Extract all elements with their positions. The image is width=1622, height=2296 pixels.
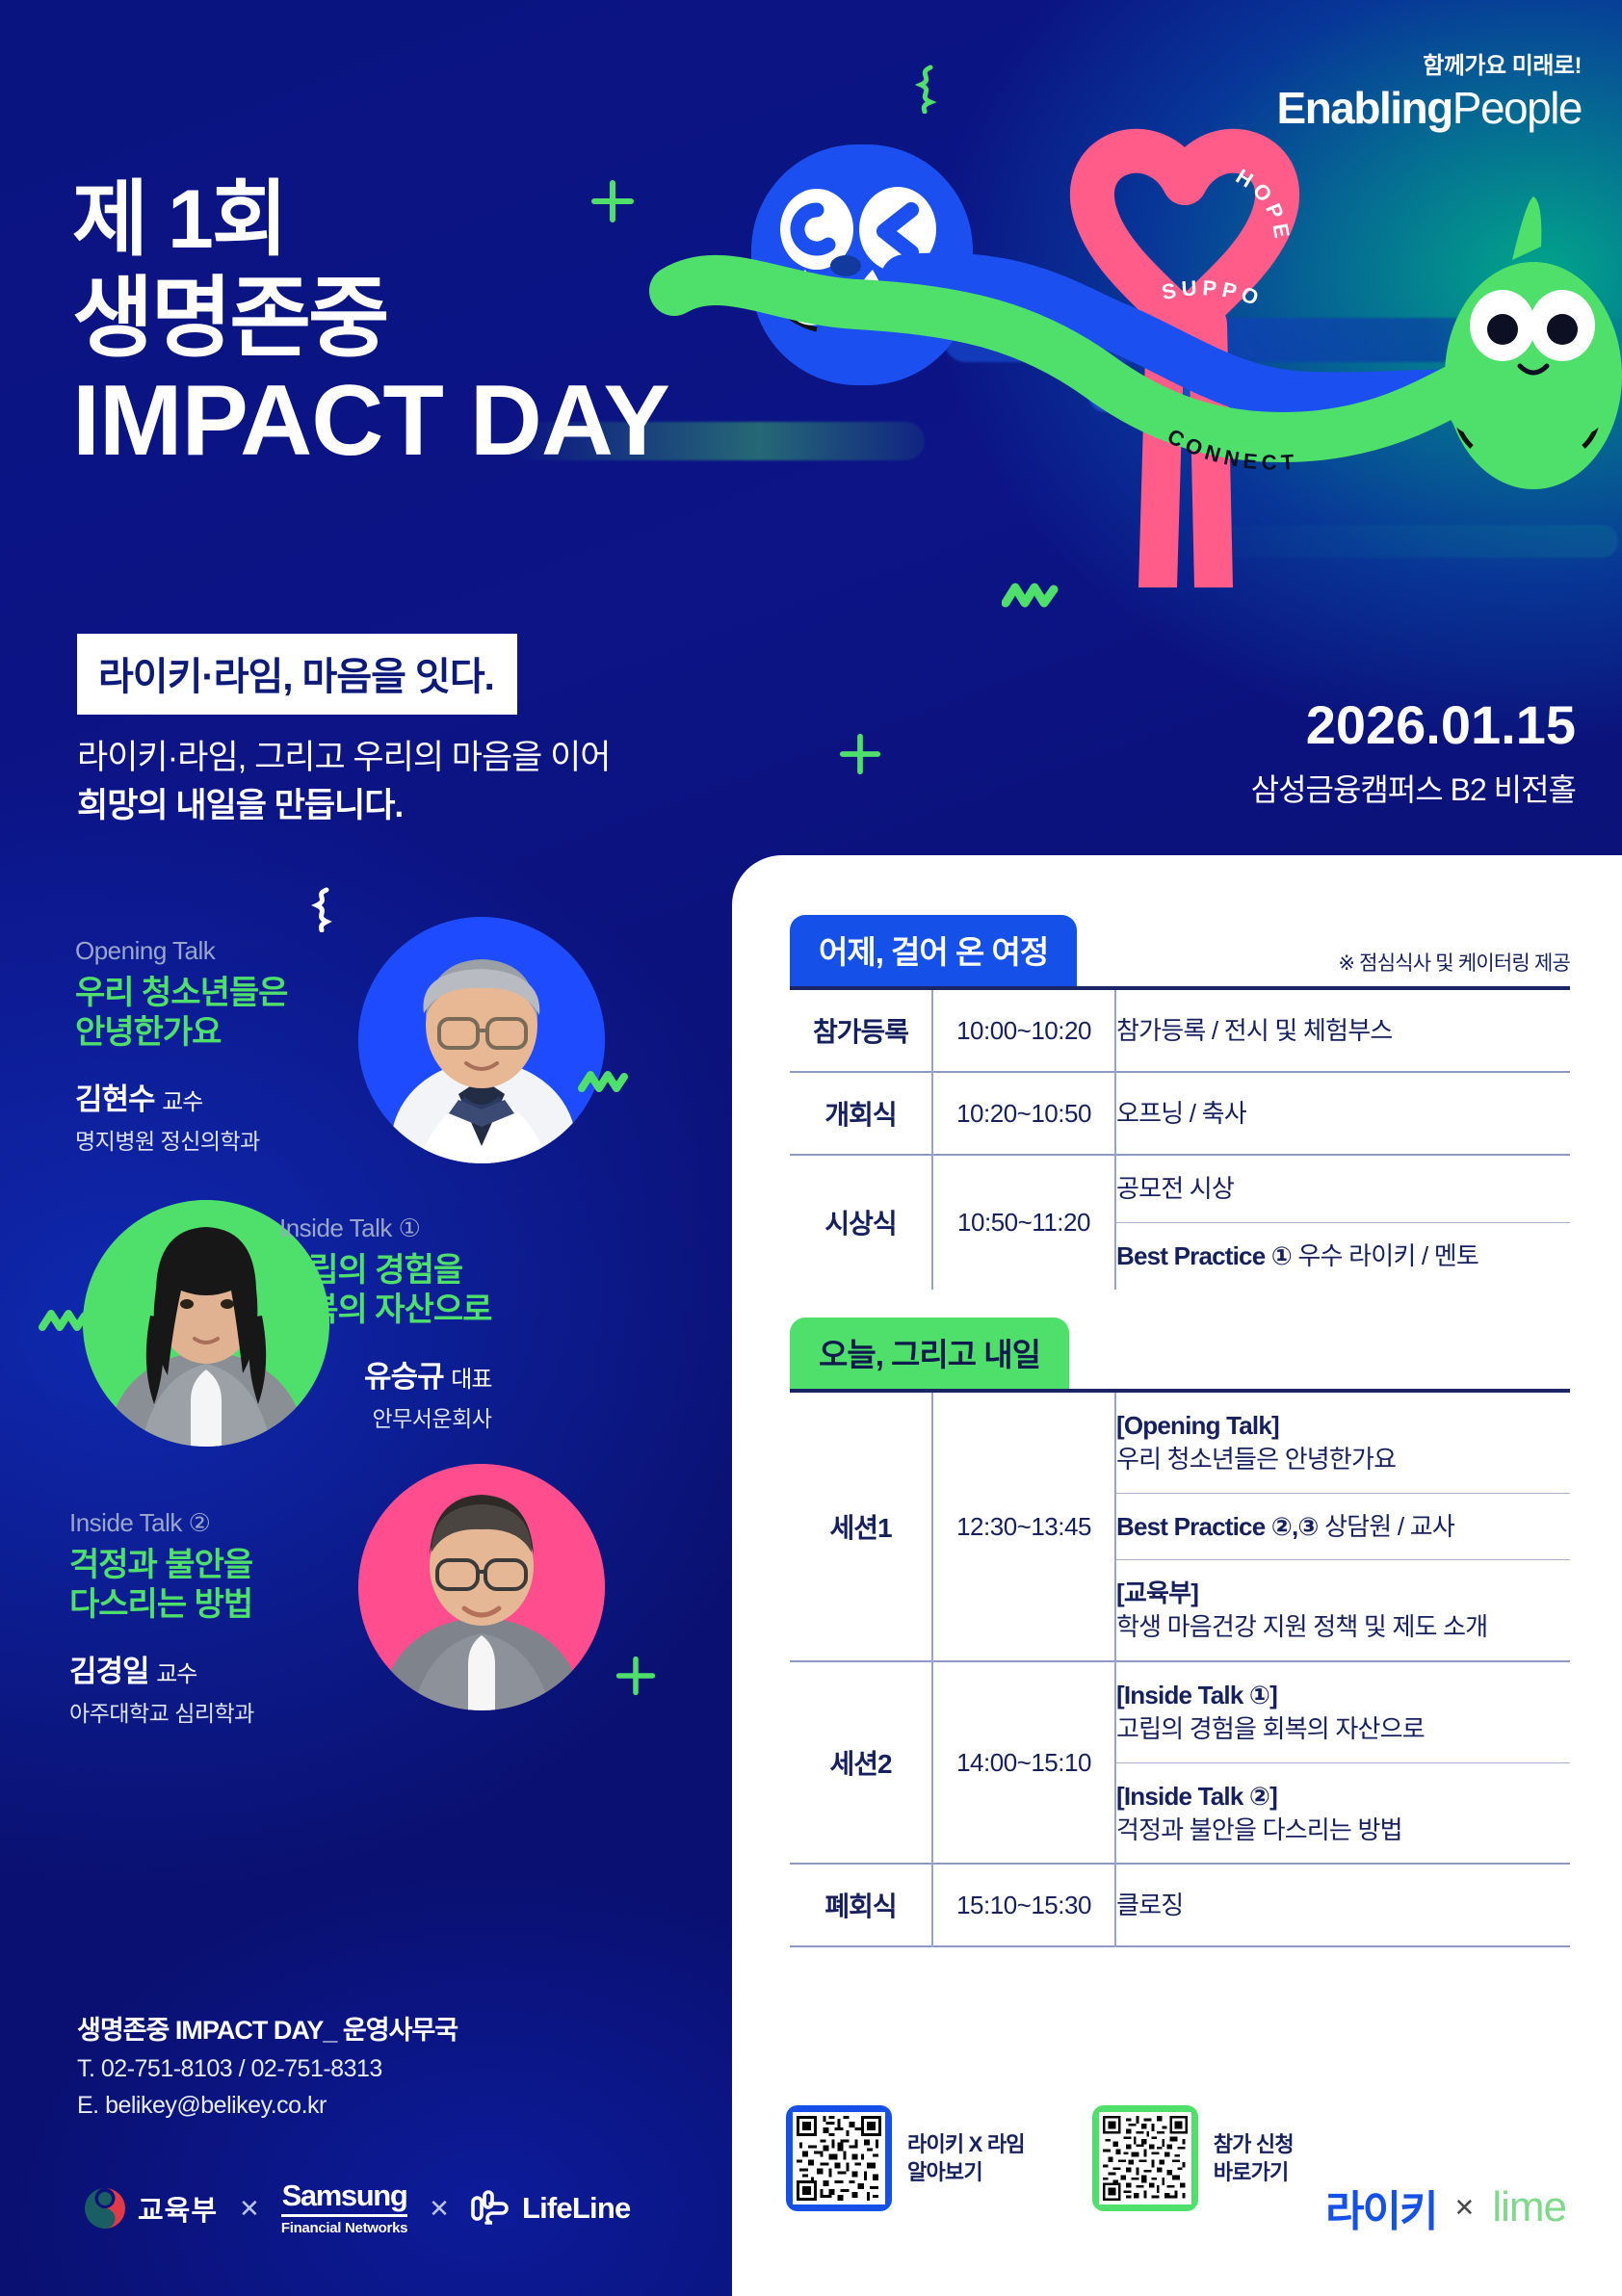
s2-item-2-header: [Inside Talk ②]	[1116, 1780, 1570, 1813]
speaker-2-title-line-1: 고립의 경험을	[279, 1251, 491, 1291]
mascot-illustration: HOPE SUPPORT CONNECT	[616, 87, 1622, 587]
s2-time: 14:00~15:10	[932, 1661, 1115, 1864]
speaker-card-2: Inside Talk ① 고립의 경험을 회복의 자산으로 유승규 대표 안무…	[0, 1194, 732, 1474]
speaker-2-name: 유승규	[364, 1360, 444, 1394]
s1-item-1: [Opening Talk] 우리 청소년들은 안녕한가요	[1115, 1391, 1570, 1493]
speaker-1-name: 김현수	[75, 1083, 155, 1116]
speaker-3-info: Inside Talk ② 걱정과 불안을 다스리는 방법 김경일 교수 아주대…	[69, 1508, 254, 1728]
row3-desc-b: Best Practice ① 우수 라이키 / 멘토	[1115, 1222, 1570, 1289]
qr-label-2: 참가 신청 바로가기	[1214, 2130, 1294, 2186]
subcopy-line-2: 희망의 내일을 만듭니다.	[77, 782, 610, 830]
speaker-1-info: Opening Talk 우리 청소년들은 안녕한가요 김현수 교수 명지병원 …	[75, 936, 287, 1156]
people-light: People	[1452, 83, 1582, 133]
row2-desc: 오프닝 / 축사	[1115, 1072, 1570, 1155]
speaker-2-title-line-2: 회복의 자산으로	[279, 1291, 491, 1330]
qr-label-1-line-2: 알아보기	[907, 2158, 1025, 2186]
logo-separator: ✕	[1454, 2193, 1476, 2223]
qr-code-1[interactable]	[793, 2112, 885, 2205]
speaker-3-name-row: 김경일 교수	[69, 1647, 254, 1690]
speaker-2-title: 고립의 경험을 회복의 자산으로	[279, 1251, 491, 1331]
speaker-3-title-line-2: 다스리는 방법	[69, 1585, 254, 1625]
s1-item-3: [교육부] 학생 마음건강 지원 정책 및 제도 소개	[1115, 1560, 1570, 1661]
row3-desc-a: 공모전 시상	[1115, 1155, 1570, 1222]
table-row: 세션1 12:30~13:45 [Opening Talk] 우리 청소년들은 …	[790, 1391, 1570, 1493]
speaker-3-avatar	[358, 1464, 605, 1710]
row3-time: 10:50~11:20	[932, 1155, 1115, 1290]
speaker-3-name: 김경일	[69, 1655, 149, 1688]
speaker-2-role: 대표	[451, 1367, 491, 1393]
s1-item-2-bold: Best Practice ②,③	[1116, 1512, 1319, 1541]
qr-item-1[interactable]: 라이키 X 라임 알아보기	[786, 2105, 1025, 2211]
schedule-yesterday-note: ※ 점심식사 및 케이터링 제공	[1338, 948, 1570, 986]
table-row: 폐회식 15:10~15:30 클로징	[790, 1864, 1570, 1946]
table-row: 시상식 10:50~11:20 공모전 시상	[790, 1155, 1570, 1222]
schedule-panel: 어제, 걸어 온 여정 ※ 점심식사 및 케이터링 제공 참가등록 10:00~…	[732, 855, 1622, 2296]
lifeline-hand-icon	[471, 2190, 511, 2227]
enabling-people-wordmark: EnablingPeople	[1277, 82, 1582, 134]
s1-item-3-body: 학생 마음건강 지원 정책 및 제도 소개	[1116, 1612, 1487, 1641]
qr-code-1-frame[interactable]	[786, 2105, 892, 2211]
row1-desc: 참가등록 / 전시 및 체험부스	[1115, 988, 1570, 1072]
speaker-1-affiliation: 명지병원 정신의학과	[75, 1123, 287, 1156]
s1-item-1-body: 우리 청소년들은 안녕한가요	[1116, 1445, 1396, 1474]
event-date-block: 2026.01.15 삼성금융캠퍼스 B2 비전홀	[1251, 693, 1576, 810]
qr-label-1-line-1: 라이키 X 라임	[907, 2130, 1025, 2158]
laiki-wordmark: 라이키	[1325, 2177, 1436, 2238]
s1-time: 12:30~13:45	[932, 1391, 1115, 1661]
speaker-1-name-row: 김현수 교수	[75, 1075, 287, 1118]
partner-samsung-sub: Financial Networks	[281, 2220, 407, 2236]
schedule-today-badge: 오늘, 그리고 내일	[790, 1318, 1069, 1389]
s2-item-2: [Inside Talk ②] 걱정과 불안을 다스리는 방법	[1115, 1762, 1570, 1864]
partner-moe-label: 교육부	[138, 2188, 218, 2229]
s3-desc: 클로징	[1115, 1864, 1570, 1946]
s1-item-2: Best Practice ②,③ 상담원 / 교사	[1115, 1493, 1570, 1560]
speaker-1-title: 우리 청소년들은 안녕한가요	[75, 974, 287, 1054]
speaker-2-kicker: Inside Talk ①	[279, 1213, 491, 1243]
partner-lifeline: LifeLine	[471, 2190, 630, 2227]
speaker-1-kicker: Opening Talk	[75, 936, 287, 966]
partner-separator-2: ✕	[429, 2194, 450, 2224]
s3-category: 폐회식	[790, 1864, 932, 1946]
schedule-today: 오늘, 그리고 내일 세션1 12:30~13:45 [Opening Talk…	[790, 1318, 1570, 1947]
speaker-1-role: 교수	[162, 1089, 202, 1115]
partner-samsung-name: Samsung	[281, 2180, 407, 2210]
s2-item-1-header: [Inside Talk ①]	[1116, 1679, 1570, 1712]
speaker-3-role: 교수	[156, 1661, 196, 1687]
s2-item-1: [Inside Talk ①] 고립의 경험을 회복의 자산으로	[1115, 1661, 1570, 1762]
speaker-card-3: Inside Talk ② 걱정과 불안을 다스리는 방법 김경일 교수 아주대…	[0, 1474, 732, 1762]
row3-bp-label: Best Practice ①	[1116, 1241, 1292, 1270]
partner-logos: 교육부 ✕ Samsung Financial Networks ✕ LifeL…	[83, 2180, 630, 2236]
row1-category: 참가등록	[790, 988, 932, 1072]
s1-item-2-rest: 상담원 / 교사	[1319, 1512, 1454, 1541]
qr-code-2[interactable]	[1099, 2112, 1191, 2205]
schedule-today-table: 세션1 12:30~13:45 [Opening Talk] 우리 청소년들은 …	[790, 1389, 1570, 1947]
table-row: 개회식 10:20~10:50 오프닝 / 축사	[790, 1072, 1570, 1155]
qr-code-2-frame[interactable]	[1092, 2105, 1198, 2211]
row2-time: 10:20~10:50	[932, 1072, 1115, 1155]
schedule-yesterday-head: 어제, 걸어 온 여정 ※ 점심식사 및 케이터링 제공	[790, 915, 1570, 986]
samsung-rule	[281, 2214, 407, 2217]
poster-title: 제 1회 생명존중 IMPACT DAY	[72, 178, 669, 471]
subcopy-line-1: 라이키·라임, 그리고 우리의 마음을 이어	[77, 734, 610, 782]
speaker-1-avatar	[358, 917, 605, 1163]
partner-separator-1: ✕	[239, 2194, 260, 2224]
event-date: 2026.01.15	[1251, 693, 1576, 756]
s2-category: 세션2	[790, 1661, 932, 1864]
partner-lifeline-label: LifeLine	[522, 2191, 630, 2226]
enabling-bold: Enabling	[1277, 83, 1452, 133]
table-row: 세션2 14:00~15:10 [Inside Talk ①] 고립의 경험을 …	[790, 1661, 1570, 1762]
contact-email: E. belikey@belikey.co.kr	[77, 2092, 458, 2120]
plus-icon-speaker-3	[615, 1655, 657, 1697]
qr-label-1: 라이키 X 라임 알아보기	[907, 2130, 1025, 2186]
row2-category: 개회식	[790, 1072, 932, 1155]
lime-wordmark: lime	[1492, 2183, 1566, 2231]
s2-item-2-body: 걱정과 불안을 다스리는 방법	[1116, 1815, 1402, 1844]
schedule-yesterday-table: 참가등록 10:00~10:20 참가등록 / 전시 및 체험부스 개회식 10…	[790, 986, 1570, 1290]
wave-icon-speaker-2	[39, 1308, 89, 1333]
qr-item-2[interactable]: 참가 신청 바로가기	[1092, 2105, 1294, 2211]
contact-office: 생명존중 IMPACT DAY_ 운영사무국	[77, 2009, 458, 2047]
headline-subcopy: 라이키·라임, 그리고 우리의 마음을 이어 희망의 내일을 만듭니다.	[77, 734, 610, 829]
speaker-3-title-line-1: 걱정과 불안을	[69, 1546, 254, 1585]
qr-section: 라이키 X 라임 알아보기	[786, 2105, 1294, 2211]
speaker-2-name-row: 유승규 대표	[279, 1352, 491, 1396]
enabling-people-tagline: 함께가요 미래로!	[1277, 46, 1582, 80]
contact-tel: T. 02-751-8103 / 02-751-8313	[77, 2055, 458, 2083]
s2-item-1-body: 고립의 경험을 회복의 자산으로	[1116, 1714, 1425, 1743]
speaker-1-title-line-1: 우리 청소년들은	[75, 974, 287, 1013]
speaker-2-info: Inside Talk ① 고립의 경험을 회복의 자산으로 유승규 대표 안무…	[279, 1213, 491, 1433]
qr-label-2-line-1: 참가 신청	[1214, 2130, 1294, 2158]
laiki-lime-logo: 라이키 ✕ lime	[1325, 2177, 1566, 2238]
title-line-1: 제 1회	[72, 178, 669, 263]
row3-category: 시상식	[790, 1155, 932, 1290]
speaker-3-title: 걱정과 불안을 다스리는 방법	[69, 1546, 254, 1626]
row1-time: 10:00~10:20	[932, 988, 1115, 1072]
speaker-3-affiliation: 아주대학교 심리학과	[69, 1695, 254, 1728]
partner-samsung: Samsung Financial Networks	[281, 2180, 407, 2236]
enabling-people-logo: 함께가요 미래로! EnablingPeople	[1277, 46, 1582, 134]
row3-bp-rest: 우수 라이키 / 멘토	[1292, 1241, 1478, 1270]
title-line-2: 생명존중	[72, 273, 669, 366]
schedule-yesterday: 어제, 걸어 온 여정 ※ 점심식사 및 케이터링 제공 참가등록 10:00~…	[790, 915, 1570, 1290]
poster-root: 함께가요 미래로! EnablingPeople 제 1회 생명존중 IMPAC…	[0, 0, 1622, 2296]
partner-moe: 교육부	[83, 2186, 218, 2231]
qr-label-2-line-2: 바로가기	[1214, 2158, 1294, 2186]
speaker-2-affiliation: 안무서운회사	[279, 1400, 491, 1433]
speaker-list: Opening Talk 우리 청소년들은 안녕한가요 김현수 교수 명지병원 …	[0, 896, 732, 1762]
title-line-3: IMPACT DAY	[72, 371, 669, 471]
korea-government-emblem-icon	[83, 2186, 127, 2231]
s3-time: 15:10~15:30	[932, 1864, 1115, 1946]
schedule-yesterday-badge: 어제, 걸어 온 여정	[790, 915, 1077, 986]
headline-pill: 라이키·라임, 마음을 잇다.	[77, 634, 517, 715]
s1-item-1-header: [Opening Talk]	[1116, 1409, 1570, 1443]
speaker-card-1: Opening Talk 우리 청소년들은 안녕한가요 김현수 교수 명지병원 …	[0, 896, 732, 1194]
speaker-1-title-line-2: 안녕한가요	[75, 1013, 287, 1053]
schedule-today-head: 오늘, 그리고 내일	[790, 1318, 1570, 1389]
plus-icon-mid	[838, 732, 882, 776]
contact-block: 생명존중 IMPACT DAY_ 운영사무국 T. 02-751-8103 / …	[77, 2009, 458, 2120]
event-venue: 삼성금융캠퍼스 B2 비전홀	[1251, 766, 1576, 810]
speaker-3-kicker: Inside Talk ②	[69, 1508, 254, 1538]
s1-category: 세션1	[790, 1391, 932, 1661]
squiggle-icon-speaker-1	[308, 886, 335, 932]
s1-item-3-header: [교육부]	[1116, 1577, 1570, 1610]
table-row: 참가등록 10:00~10:20 참가등록 / 전시 및 체험부스	[790, 988, 1570, 1072]
